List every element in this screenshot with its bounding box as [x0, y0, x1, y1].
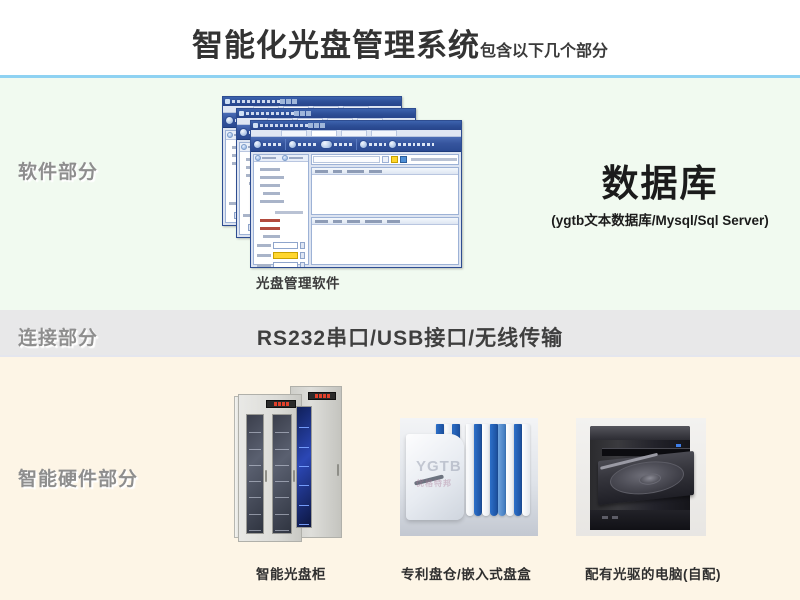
- toolbar-label: [417, 143, 434, 146]
- toolbar-separator: [356, 139, 357, 150]
- table-body[interactable]: [312, 175, 458, 214]
- folder-icon: [241, 144, 247, 150]
- computer-front-lower-panel: [590, 510, 690, 530]
- maximize-icon[interactable]: [300, 111, 305, 116]
- window-body: [251, 152, 461, 267]
- window-controls: [308, 123, 325, 128]
- sidebar-tab-catalog[interactable]: [254, 155, 281, 161]
- page-title-suffix: 包含以下几个部分: [480, 43, 608, 60]
- cabinet-led-display: [308, 392, 336, 400]
- column-header: [315, 220, 328, 223]
- minimize-icon[interactable]: [308, 123, 313, 128]
- close-icon[interactable]: [292, 99, 297, 104]
- window-controls: [280, 99, 297, 104]
- tree-item[interactable]: [260, 176, 284, 179]
- form-browse-button[interactable]: [300, 262, 305, 268]
- photo-backdrop: [220, 378, 350, 546]
- column-header: [365, 220, 382, 223]
- window-titlebar: [237, 109, 415, 118]
- tree-item[interactable]: [263, 192, 280, 195]
- search-button[interactable]: [382, 156, 389, 163]
- cabinet-glass-door-left: [246, 414, 264, 534]
- toolbar-label: [334, 143, 354, 146]
- form-browse-button[interactable]: [300, 242, 305, 249]
- section-label-software: 软件部分: [18, 157, 98, 184]
- toolbar-separator: [285, 139, 286, 150]
- window-tabbar[interactable]: [251, 130, 461, 137]
- tree-item[interactable]: [260, 200, 284, 203]
- folder-icon: [227, 132, 233, 138]
- refresh-icon[interactable]: [400, 156, 407, 163]
- disc-icon: [320, 140, 333, 149]
- app-logo-icon: [239, 111, 244, 116]
- tree-item-alert[interactable]: [260, 227, 280, 230]
- record-count-text: [411, 158, 457, 161]
- form-input[interactable]: [273, 242, 298, 249]
- caption-disc-cabinet: 智能光盘柜: [256, 563, 326, 583]
- sidebar-form[interactable]: [254, 240, 308, 268]
- toolbar-button-help[interactable]: [417, 143, 434, 146]
- database-title: 数据库: [520, 163, 800, 205]
- toolbar-label: [398, 143, 415, 146]
- form-label: [257, 254, 271, 257]
- tree-status-text: [275, 211, 303, 214]
- import-icon: [239, 128, 248, 137]
- database-block: 数据库 (ygtb文本数据库/Mysql/Sql Server): [520, 163, 800, 229]
- content-table-upper[interactable]: [311, 167, 459, 215]
- disc-tray: [522, 424, 530, 516]
- form-row[interactable]: [257, 262, 305, 268]
- form-label: [257, 244, 271, 247]
- sidebar-tab-label: [262, 157, 276, 159]
- folder-icon: [255, 155, 261, 161]
- photo-backdrop: YGTB 优格特邦: [400, 418, 538, 536]
- sidebar-tab-label: [289, 157, 303, 159]
- tree-item-alert[interactable]: [260, 219, 280, 222]
- toolbar-button-search[interactable]: [388, 140, 415, 149]
- toolbar-label: [263, 143, 283, 146]
- photo-backdrop: [576, 418, 706, 536]
- tab-item[interactable]: [341, 130, 367, 136]
- slide-header: 智能化光盘管理系统包含以下几个部分: [0, 0, 800, 77]
- table-body[interactable]: [312, 225, 458, 264]
- window-title-text: [232, 100, 280, 103]
- toolbar-label: [298, 143, 318, 146]
- form-browse-button[interactable]: [300, 252, 305, 259]
- caption-software: 光盘管理软件: [256, 272, 340, 292]
- cabinet-glass-door-illuminated: [296, 406, 312, 528]
- close-icon[interactable]: [320, 123, 325, 128]
- tab-item-active[interactable]: [311, 130, 337, 136]
- import-icon: [225, 116, 234, 125]
- audio-port-icon: [612, 516, 618, 519]
- window-titlebar: [251, 121, 461, 130]
- toolbar-button-settings[interactable]: [359, 140, 386, 149]
- search-input[interactable]: [313, 156, 380, 163]
- app-window-front: [250, 120, 462, 268]
- import-icon: [253, 140, 262, 149]
- column-header: [369, 170, 382, 173]
- disc-icon: [282, 155, 288, 161]
- section-label-connection: 连接部分: [18, 323, 98, 350]
- cabinet-door-handle: [337, 464, 339, 476]
- tab-item[interactable]: [371, 130, 397, 136]
- shelf-stack: [249, 417, 261, 531]
- app-logo-icon: [225, 99, 230, 104]
- toolbar-label: [369, 143, 386, 146]
- front-ports: [602, 516, 618, 519]
- column-header: [347, 170, 364, 173]
- disc-cabinet-photo: [220, 378, 350, 546]
- warning-icon[interactable]: [391, 156, 398, 163]
- disc-management-software-screenshot: [222, 96, 462, 268]
- watermark: YGTB 优格特邦: [416, 458, 520, 492]
- window-sidebar: [253, 154, 309, 265]
- section-label-hardware: 智能硬件部分: [18, 464, 138, 491]
- window-titlebar: [223, 97, 401, 106]
- window-toolbar[interactable]: [251, 137, 461, 152]
- table-header: [312, 218, 458, 225]
- table-header: [312, 168, 458, 175]
- cabinet-door-handle: [265, 470, 267, 482]
- disc-tray-photo: YGTB 优格特邦: [400, 418, 538, 536]
- column-header: [347, 220, 360, 223]
- form-input[interactable]: [273, 262, 298, 268]
- toolbar-button-disc[interactable]: [320, 140, 354, 149]
- cabinet-led-display: [266, 400, 296, 408]
- window-content: [311, 154, 459, 265]
- tree-item[interactable]: [260, 184, 280, 187]
- sidebar-tab-disc[interactable]: [281, 155, 308, 161]
- column-header: [333, 220, 342, 223]
- disc-spindle-hub: [639, 472, 661, 485]
- content-search-bar[interactable]: [311, 154, 459, 165]
- slide-canvas: 智能化光盘管理系统包含以下几个部分 软件部分: [0, 0, 800, 600]
- computer-top-panel: [590, 426, 690, 440]
- sidebar-tree[interactable]: [254, 162, 308, 240]
- computer-with-optical-drive-photo: [576, 418, 706, 536]
- caption-disc-tray: 专利盘仓/嵌入式盘盒: [401, 563, 531, 583]
- export-icon: [288, 140, 297, 149]
- column-header: [333, 170, 342, 173]
- form-label: [257, 264, 271, 267]
- tab-item[interactable]: [281, 130, 307, 136]
- window-title-text: [260, 124, 308, 127]
- window-title-text: [246, 112, 294, 115]
- connection-methods-text: RS232串口/USB接口/无线传输: [200, 322, 620, 352]
- column-header: [387, 220, 400, 223]
- maximize-icon[interactable]: [286, 99, 291, 104]
- shelf-stack-illuminated: [299, 409, 309, 525]
- tree-item[interactable]: [260, 168, 280, 171]
- cabinet-glass-door-right: [272, 414, 292, 534]
- gear-icon: [359, 140, 368, 149]
- app-logo-icon: [253, 123, 258, 128]
- database-subtitle: (ygtb文本数据库/Mysql/Sql Server): [520, 209, 800, 229]
- form-row[interactable]: [257, 252, 305, 259]
- toolbar-button-import[interactable]: [253, 140, 283, 149]
- search-icon: [388, 140, 397, 149]
- minimize-icon[interactable]: [280, 99, 285, 104]
- usb-port-icon: [602, 516, 608, 519]
- toolbar-button-export[interactable]: [288, 140, 318, 149]
- page-title-main: 智能化光盘管理系统: [192, 28, 480, 63]
- caption-computer: 配有光驱的电脑(自配): [585, 563, 721, 583]
- form-row[interactable]: [257, 242, 305, 249]
- cabinet-door-handle: [293, 470, 295, 482]
- maximize-icon[interactable]: [314, 123, 319, 128]
- watermark-text: YGTB: [416, 458, 462, 475]
- tree-item[interactable]: [263, 235, 280, 238]
- shelf-stack: [275, 417, 289, 531]
- form-input-highlighted[interactable]: [273, 252, 298, 259]
- power-led-icon: [676, 444, 681, 447]
- page-title: 智能化光盘管理系统包含以下几个部分: [0, 20, 800, 65]
- column-header: [315, 170, 328, 173]
- sidebar-tabbar[interactable]: [254, 155, 308, 162]
- watermark-subtext: 优格特邦: [416, 475, 520, 492]
- close-icon[interactable]: [306, 111, 311, 116]
- content-table-lower[interactable]: [311, 217, 459, 265]
- minimize-icon[interactable]: [294, 111, 299, 116]
- window-controls: [294, 111, 311, 116]
